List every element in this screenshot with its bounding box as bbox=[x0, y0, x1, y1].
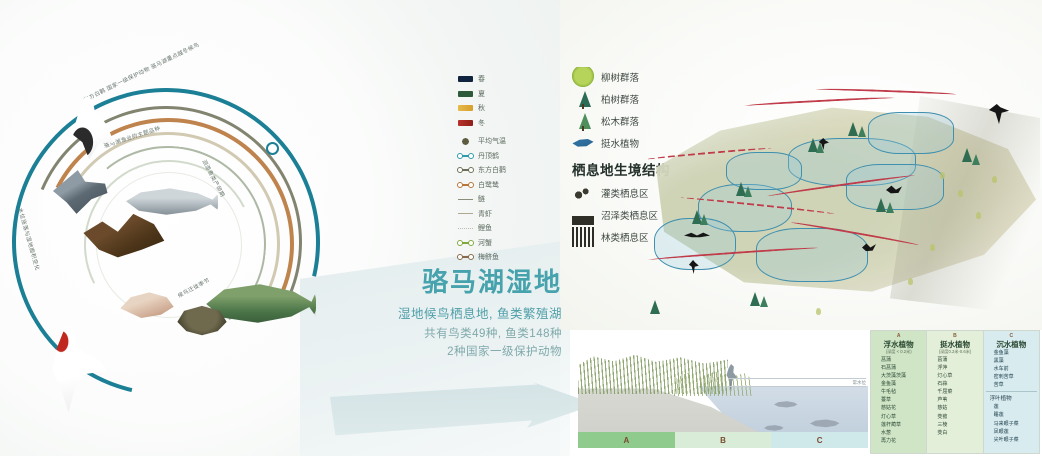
habitat-legend-label-pine: 松木群落 bbox=[601, 114, 639, 128]
plant-column-a: A 浮水植物 (深度 < 0.2米) 菖蒲 石菖蒲 大茨藻茨藻 金鱼藻 牛毛毡 … bbox=[871, 331, 926, 453]
legend-label-anchovy: 梅鲚鱼 bbox=[478, 252, 499, 262]
chart-legend: 春 夏 秋 冬 平均气温 丹顶鹤 东方白鹳 bbox=[458, 72, 554, 265]
shrub-icon bbox=[572, 183, 594, 203]
willow-icon bbox=[572, 67, 594, 87]
legend-item-avg-temp: 平均气温 bbox=[458, 134, 554, 149]
dotted-line-marker-icon bbox=[458, 153, 473, 159]
plant-column-b-header: 挺水植物 bbox=[929, 340, 980, 349]
legend-item-red-crowned-crane: 丹顶鹤 bbox=[458, 149, 554, 164]
tree-cluster bbox=[760, 296, 768, 307]
plant-item: 苦草 bbox=[994, 381, 1037, 389]
plant-column-a-list: 菖蒲 石菖蒲 大茨藻茨藻 金鱼藻 牛毛毡 薹草 慈姑花 灯心草 莲杆蔺草 水葱 … bbox=[873, 356, 924, 445]
bird-flight-path bbox=[816, 88, 956, 95]
pine-icon bbox=[572, 111, 594, 131]
grass-tuft bbox=[930, 244, 935, 251]
tree-cluster bbox=[750, 292, 760, 306]
legend-item-carp: 鲤鱼 bbox=[458, 221, 554, 236]
temperature-marker-icon bbox=[458, 138, 473, 145]
subtitle-protected-count: 2种国家一级保护动物 bbox=[300, 343, 562, 359]
legend-label-avg-temp: 平均气温 bbox=[478, 136, 506, 146]
legend-item-egret: 白鹭鸶 bbox=[458, 178, 554, 193]
grass-tuft bbox=[958, 190, 963, 197]
plant-item: 石菖蒲 bbox=[881, 364, 924, 372]
tree-cluster bbox=[886, 202, 894, 213]
plant-item: 再力花 bbox=[881, 437, 924, 445]
plant-item: 金鱼藻 bbox=[881, 380, 924, 388]
swatch-autumn-icon bbox=[458, 105, 473, 111]
plant-item: 牛毛毡 bbox=[881, 388, 924, 396]
solid-line-marker-icon bbox=[458, 213, 473, 214]
forest-icon bbox=[572, 227, 594, 247]
plant-item: 凤眼莲 bbox=[994, 428, 1037, 436]
tree-cluster bbox=[972, 154, 980, 165]
plant-item: 三棱 bbox=[937, 421, 980, 429]
subtitle-primary: 湿地候鸟栖息地, 鱼类繁殖湖 bbox=[300, 303, 562, 322]
legend-item-silver-carp: 鲢 bbox=[458, 192, 554, 207]
plant-item: 金鱼藻 bbox=[994, 349, 1037, 357]
ecosystem-circle-diagram: 东方白鹳 国家一级保护动物 骆马湖重点越冬候鸟 骆马湖渔业的主题品种 洄游鱼类产… bbox=[8, 78, 348, 398]
tree-cluster bbox=[700, 214, 708, 225]
subtitle-species-count: 共有鸟类49种, 鱼类148种 bbox=[300, 325, 562, 341]
plant-column-b-list: 菖蒲 浮萍 灯心草 石蒜 千屈菜 芦苇 慈姑 茭菰 三棱 茭白 bbox=[929, 356, 980, 437]
grass-tuft bbox=[940, 172, 945, 179]
plant-column-b-depth: (深度0.2米-0.6米) bbox=[929, 349, 980, 354]
plant-column-a-depth: (深度 < 0.2米) bbox=[873, 349, 924, 354]
legend-item-winter: 冬 bbox=[458, 116, 554, 131]
plant-item: 菖蒲 bbox=[937, 356, 980, 364]
plant-item: 薹草 bbox=[881, 396, 924, 404]
plant-item: 马来眼子菜 bbox=[994, 420, 1037, 428]
section-water-level-line bbox=[728, 386, 866, 387]
legend-label-egret: 白鹭鸶 bbox=[478, 180, 499, 190]
plant-column-c-subheader: 浮叶植物 bbox=[986, 391, 1037, 402]
habitat-legend-label-willow: 柳树群落 bbox=[601, 70, 639, 84]
section-water-level-label: 常水位 bbox=[853, 380, 867, 386]
grass-tuft bbox=[976, 212, 981, 219]
legend-label-silver-carp: 鲢 bbox=[478, 194, 485, 204]
solid-line-marker-icon bbox=[458, 199, 473, 200]
section-reference-line bbox=[728, 378, 866, 379]
dotted-line-marker-icon bbox=[458, 240, 473, 246]
swatch-summer-icon bbox=[458, 91, 473, 97]
plant-column-c-list: 金鱼藻 黑藻 水车前 密刺苦草 苦草 bbox=[986, 349, 1037, 389]
legend-label-red-crowned-crane: 丹顶鹤 bbox=[478, 151, 499, 161]
ring-endpoint-top bbox=[266, 142, 279, 155]
title-block: 骆马湖湿地 湿地候鸟栖息地, 鱼类繁殖湖 共有鸟类49种, 鱼类148种 2种国… bbox=[300, 268, 562, 359]
dotted-line-marker-icon bbox=[458, 254, 473, 260]
legend-item-spring: 春 bbox=[458, 72, 554, 87]
tree-cluster bbox=[744, 186, 752, 197]
legend-label-oriental-stork: 东方白鹳 bbox=[478, 165, 506, 175]
plant-item: 灯心草 bbox=[937, 372, 980, 380]
plant-item: 灯心草 bbox=[881, 413, 924, 421]
legend-label-autumn: 秋 bbox=[478, 103, 485, 113]
plant-species-table: A 浮水植物 (深度 < 0.2米) 菖蒲 石菖蒲 大茨藻茨藻 金鱼藻 牛毛毡 … bbox=[870, 330, 1040, 454]
plant-item: 水车前 bbox=[994, 365, 1037, 373]
bird-flight-path bbox=[744, 96, 894, 106]
section-zone-bar: A B C bbox=[578, 432, 868, 448]
swatch-spring-icon bbox=[458, 76, 473, 82]
infographic-canvas: 东方白鹳 国家一级保护动物 骆马湖重点越冬候鸟 骆马湖渔业的主题品种 洄游鱼类产… bbox=[0, 0, 1042, 456]
water-body bbox=[654, 218, 736, 270]
plant-item: 慈姑花 bbox=[881, 404, 924, 412]
plant-item: 茭菰 bbox=[937, 413, 980, 421]
legend-label-summer: 夏 bbox=[478, 89, 485, 99]
plant-item: 莲杆蔺草 bbox=[881, 421, 924, 429]
plant-item: 慈姑 bbox=[937, 404, 980, 412]
legend-item-autumn: 秋 bbox=[458, 101, 554, 116]
plant-item: 尖叶眼子菜 bbox=[994, 436, 1037, 444]
plant-item: 茭白 bbox=[937, 429, 980, 437]
page-title: 骆马湖湿地 bbox=[300, 268, 562, 298]
grass-tuft bbox=[908, 278, 913, 285]
legend-label-carp: 鲤鱼 bbox=[478, 223, 492, 233]
legend-item-oriental-stork: 东方白鹳 bbox=[458, 163, 554, 178]
plant-item: 石蒜 bbox=[937, 380, 980, 388]
plant-column-c-header: 沉水植物 bbox=[986, 340, 1037, 349]
cypress-icon bbox=[572, 89, 594, 109]
plant-item: 睡莲 bbox=[994, 411, 1037, 419]
habitat-legend-label-cypress: 柏树群落 bbox=[601, 92, 639, 106]
legend-label-spring: 春 bbox=[478, 74, 485, 84]
plant-column-b: B 挺水植物 (深度0.2米-0.6米) 菖蒲 浮萍 灯心草 石蒜 千屈菜 芦苇… bbox=[926, 331, 983, 453]
legend-label-river-crab: 河蟹 bbox=[478, 238, 492, 248]
tree-cluster bbox=[876, 198, 886, 212]
legend-item-river-crab: 河蟹 bbox=[458, 236, 554, 251]
plant-item: 芦苇 bbox=[937, 396, 980, 404]
wetland-cross-section: 常水位 A B C bbox=[578, 334, 868, 454]
tree-cluster bbox=[650, 300, 660, 314]
legend-item-shrimp: 青虾 bbox=[458, 207, 554, 222]
water-body bbox=[868, 112, 954, 154]
tree-cluster bbox=[848, 122, 858, 136]
dashed-line-marker-icon bbox=[458, 228, 473, 229]
habitat-map bbox=[640, 56, 1040, 328]
legend-label-winter: 冬 bbox=[478, 118, 485, 128]
grass-tuft bbox=[992, 176, 997, 183]
marsh-icon bbox=[572, 205, 594, 225]
dotted-line-marker-icon bbox=[458, 182, 473, 188]
tree-cluster bbox=[962, 148, 972, 162]
plant-column-c-sublist: 莲 睡莲 马来眼子菜 凤眼莲 尖叶眼子菜 bbox=[986, 403, 1037, 443]
plant-item: 密刺苦草 bbox=[994, 373, 1037, 381]
grass-tuft bbox=[816, 308, 821, 315]
legend-item-summer: 夏 bbox=[458, 87, 554, 102]
habitat-legend-label-emergent: 挺水植物 bbox=[601, 136, 639, 150]
plant-item: 黑藻 bbox=[994, 357, 1037, 365]
emergent-plant-icon bbox=[572, 133, 594, 153]
plant-item: 浮萍 bbox=[937, 364, 980, 372]
tree-cluster bbox=[858, 126, 866, 137]
plant-item: 千屈菜 bbox=[937, 388, 980, 396]
plant-column-a-header: 浮水植物 bbox=[873, 340, 924, 349]
plant-column-c: C 沉水植物 金鱼藻 黑藻 水车前 密刺苦草 苦草 浮叶植物 莲 睡莲 马来眼子… bbox=[984, 331, 1039, 453]
legend-label-shrimp: 青虾 bbox=[478, 209, 492, 219]
section-zone-a: A bbox=[578, 432, 675, 448]
plant-item: 菖蒲 bbox=[881, 356, 924, 364]
plant-item: 大茨藻茨藻 bbox=[881, 372, 924, 380]
plant-item: 水葱 bbox=[881, 429, 924, 437]
swatch-winter-icon bbox=[458, 120, 473, 126]
legend-item-anchovy: 梅鲚鱼 bbox=[458, 250, 554, 265]
water-body bbox=[756, 228, 868, 282]
water-body bbox=[846, 164, 944, 210]
section-zone-b: B bbox=[675, 432, 772, 448]
section-zone-c: C bbox=[771, 432, 868, 448]
dotted-line-marker-icon bbox=[458, 167, 473, 173]
plant-item: 莲 bbox=[994, 403, 1037, 411]
